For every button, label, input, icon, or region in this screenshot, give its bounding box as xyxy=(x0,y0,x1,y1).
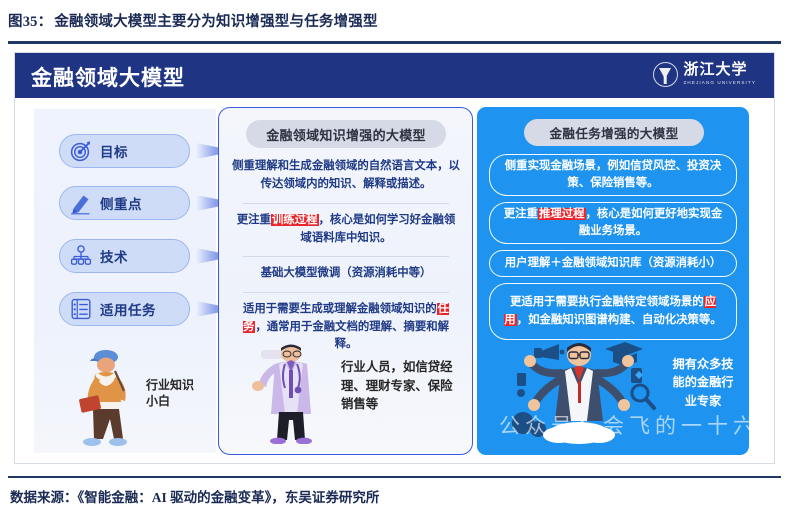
criteria-pill-label-1: 侧重点 xyxy=(100,193,142,213)
slide-title: 金融领域大模型 xyxy=(31,62,185,92)
university-name-cn: 浙江大学 xyxy=(684,63,756,78)
right-row-1-text-b: ，核心是如何更好地实现金融业务场景。 xyxy=(579,208,722,237)
source-note: 数据来源：《智能金融：AI 驱动的金融变革》，东吴证券研究所 xyxy=(10,486,379,506)
criteria-pill-0[interactable]: 目标 xyxy=(59,134,190,168)
right-row-3-text-a: 更适用于需要执行金融特定领域场景的 xyxy=(510,296,704,308)
left-persona-label: 行业知识小白 xyxy=(146,377,200,409)
watermark-text: 公众号：会飞的一十六 xyxy=(499,410,749,440)
university-name-en: ZHEJIANG UNIVERSITY xyxy=(684,81,756,86)
bottom-divider xyxy=(8,476,781,478)
right-row-1: 更注重推理过程，核心是如何更好地实现金融业务场景。 xyxy=(489,202,737,244)
middle-divider-1 xyxy=(243,256,449,257)
middle-row-1-text-a: 更注重 xyxy=(237,214,271,226)
right-row-0: 侧重实现金融场景，例如信贷风控、投资决策、保险销售等。 xyxy=(489,154,737,196)
middle-row-0-text: 侧重理解和生成金融领域的自然语言文本，以传达领域内的知识、解释或描述。 xyxy=(232,160,460,190)
pencil-icon xyxy=(69,191,93,215)
figure-number: 图35： xyxy=(8,14,52,30)
checklist-icon xyxy=(69,297,93,321)
right-row-2-text: 用户理解＋金融领域知识库（资源消耗小） xyxy=(505,255,721,272)
doctor-professional-illustration xyxy=(245,340,331,444)
middle-row-0: 侧重理解和生成金融领域的自然语言文本，以传达领域内的知识、解释或描述。 xyxy=(232,158,460,193)
middle-persona-label: 行业人员，如信贷经理、理财专家、保险销售等 xyxy=(341,358,453,414)
figure-page: 图35：金融领域大模型主要分为知识增强型与任务增强型 金融领域大模型 浙江大学 … xyxy=(0,0,789,518)
middle-panel-heading: 金融领域知识增强的大模型 xyxy=(246,120,446,148)
casual-man-illustration xyxy=(68,347,142,447)
right-row-2: 用户理解＋金融领域知识库（资源消耗小） xyxy=(489,250,737,277)
middle-row-1-highlight: 训练过程 xyxy=(271,214,319,226)
target-icon xyxy=(69,139,93,163)
university-logo: 浙江大学 ZHEJIANG UNIVERSITY xyxy=(653,62,756,87)
slide-body: 目标 xyxy=(15,98,775,464)
middle-row-2: 基础大模型微调（资源消耗中等） xyxy=(232,265,460,283)
university-logo-text: 浙江大学 ZHEJIANG UNIVERSITY xyxy=(684,63,756,86)
middle-row-3-text-a: 适用于需要生成或理解金融领域知识的 xyxy=(243,303,437,315)
right-row-1-highlight: 推理过程 xyxy=(538,208,586,220)
criteria-pill-2[interactable]: 技术 xyxy=(59,239,190,273)
slide-container: 金融领域大模型 浙江大学 ZHEJIANG UNIVERSITY xyxy=(14,52,775,464)
criteria-pill-label-0: 目标 xyxy=(100,141,128,161)
middle-divider-0 xyxy=(243,203,449,204)
middle-row-2-text: 基础大模型微调（资源消耗中等） xyxy=(261,267,432,279)
right-panel-heading: 金融任务增强的大模型 xyxy=(524,119,704,146)
middle-knowledge-panel: 金融领域知识增强的大模型 侧重理解和生成金融领域的自然语言文本，以传达领域内的知… xyxy=(218,107,473,455)
criteria-pill-3[interactable]: 适用任务 xyxy=(59,292,190,326)
hierarchy-person-icon xyxy=(69,244,93,268)
middle-divider-2 xyxy=(243,292,449,293)
right-row-3: 更适用于需要执行金融特定领域场景的应用，如金融知识图谱构建、自动化决策等。 xyxy=(489,283,737,340)
right-row-0-text: 侧重实现金融场景，例如信贷风控、投资决策、保险销售等。 xyxy=(505,160,721,189)
left-criteria-column: 目标 xyxy=(34,109,216,453)
top-divider xyxy=(8,41,781,44)
right-persona-label: 拥有众多技能的金融行业专家 xyxy=(669,355,737,410)
figure-caption: 图35：金融领域大模型主要分为知识增强型与任务增强型 xyxy=(8,10,781,31)
figure-title: 金融领域大模型主要分为知识增强型与任务增强型 xyxy=(54,14,377,30)
right-task-panel: 金融任务增强的大模型 侧重实现金融场景，例如信贷风控、投资决策、保险销售等。 更… xyxy=(477,107,749,455)
middle-row-1: 更注重训练过程，核心是如何学习好金融领域语料库中知识。 xyxy=(232,212,460,247)
criteria-pill-label-2: 技术 xyxy=(100,246,128,266)
middle-row-1-text-b: ，核心是如何学习好金融领域语料库中知识。 xyxy=(300,214,455,244)
right-row-3-text-b: ，如金融知识图谱构建、自动化决策等。 xyxy=(517,314,722,326)
criteria-pill-label-3: 适用任务 xyxy=(100,299,156,319)
right-row-1-text-a: 更注重 xyxy=(504,208,538,220)
university-shield-icon xyxy=(653,62,678,87)
criteria-pill-1[interactable]: 侧重点 xyxy=(59,186,190,220)
